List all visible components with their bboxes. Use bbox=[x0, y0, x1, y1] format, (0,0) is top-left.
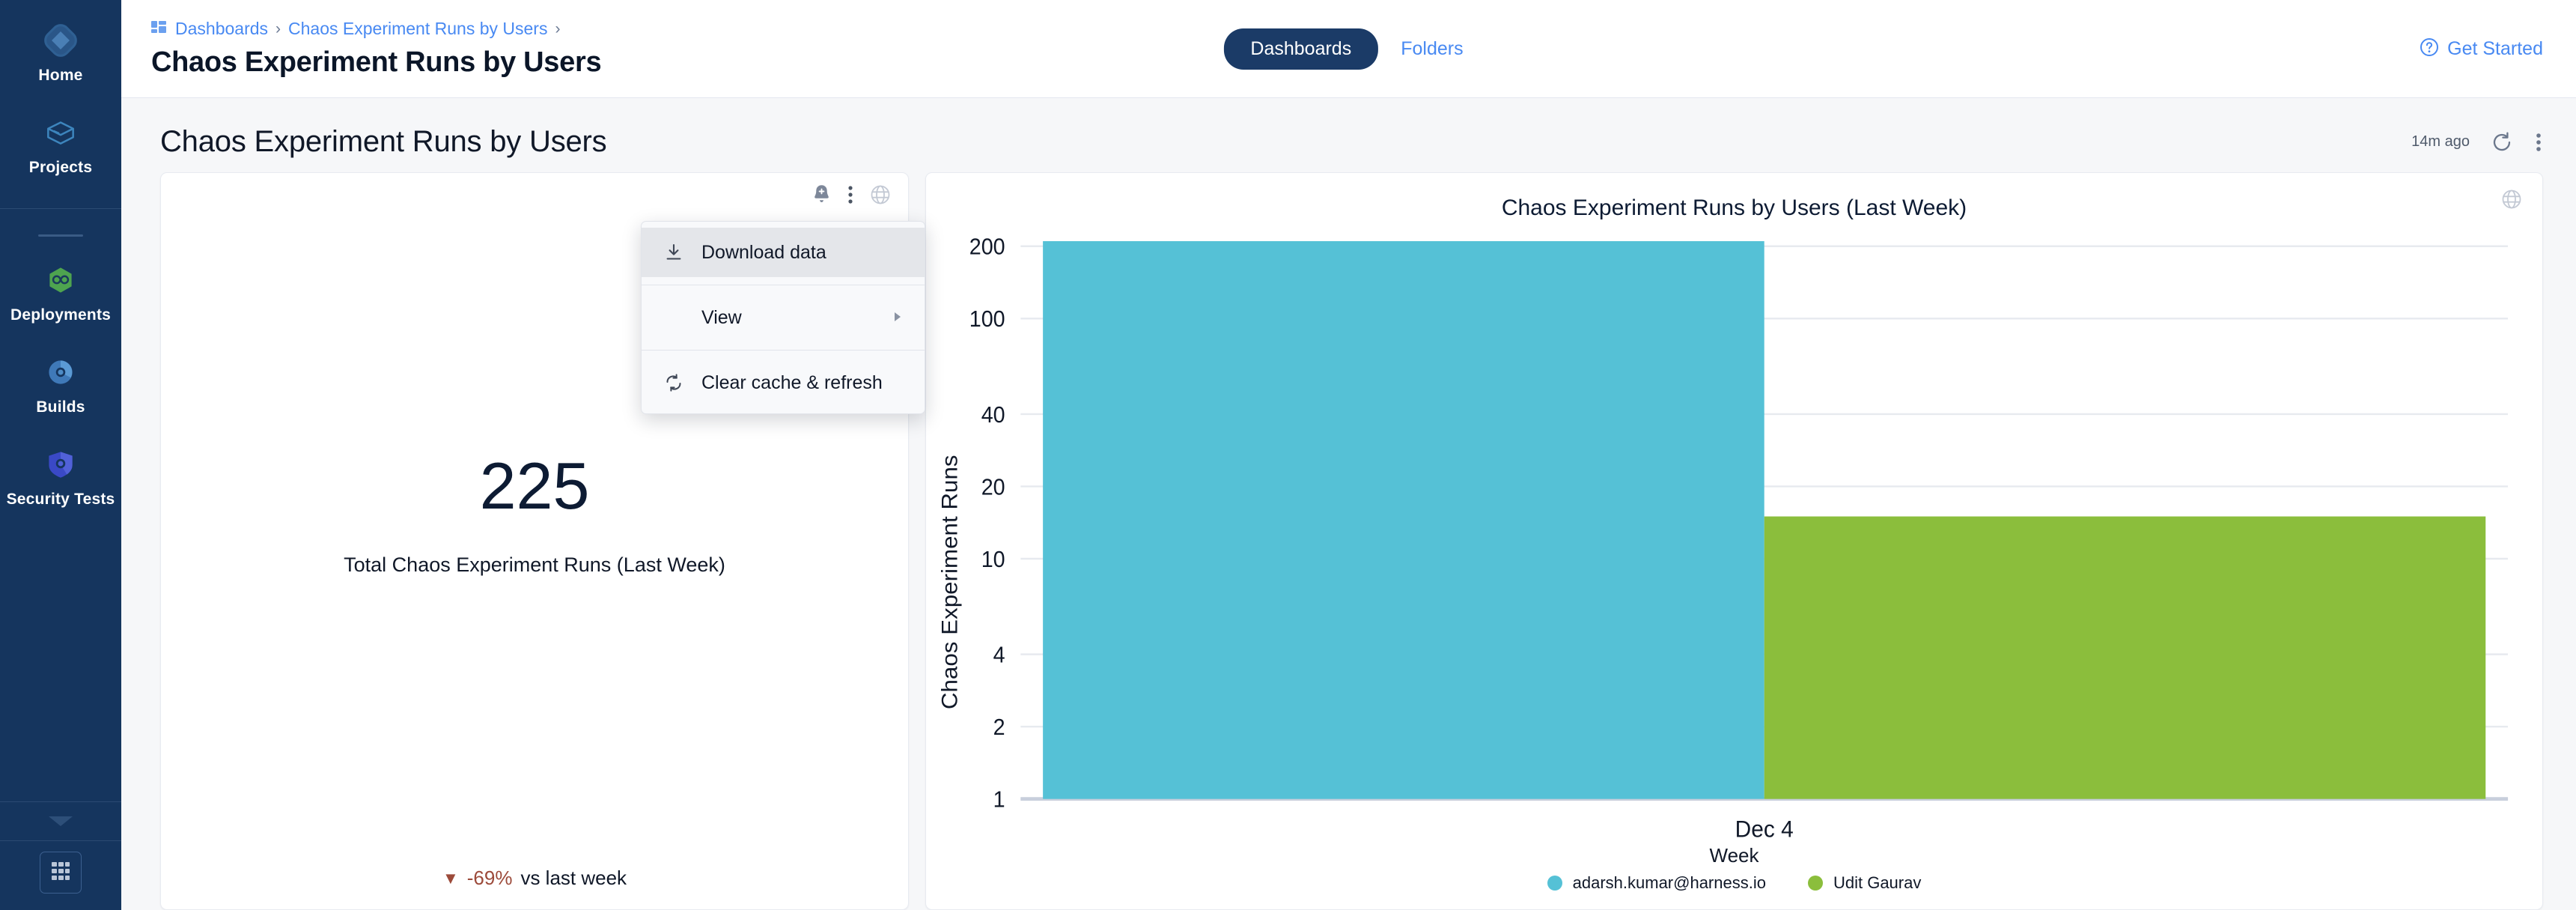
chart-x-axis-label: Week bbox=[926, 844, 2542, 872]
topbar-left: Dashboards › Chaos Experiment Runs by Us… bbox=[121, 19, 601, 79]
topbar-tabs: Dashboards Folders bbox=[1223, 28, 1473, 70]
menu-item-label: Download data bbox=[701, 242, 904, 264]
home-diamond-icon bbox=[41, 21, 80, 60]
svg-text:1: 1 bbox=[993, 787, 1005, 813]
single-value-number: 225 bbox=[480, 453, 590, 519]
sidebar-item-builds[interactable]: Builds bbox=[0, 336, 121, 428]
single-value-tile: 225 Total Chaos Experiment Runs (Last We… bbox=[160, 172, 909, 910]
submenu-arrow-icon bbox=[892, 307, 904, 329]
security-shield-icon bbox=[41, 445, 80, 484]
main-sidebar: Home Projects bbox=[0, 0, 121, 910]
svg-text:200: 200 bbox=[969, 234, 1005, 260]
chart-plot-area: 200100402010421 Chaos Experiment Runs De… bbox=[926, 221, 2542, 844]
svg-text:40: 40 bbox=[981, 402, 1005, 428]
legend-color-dot bbox=[1547, 876, 1562, 891]
sidebar-apps-row bbox=[0, 840, 121, 910]
legend-color-dot bbox=[1808, 876, 1823, 891]
sidebar-divider bbox=[38, 234, 83, 237]
single-tile-actions bbox=[812, 183, 892, 206]
builds-circle-icon bbox=[41, 353, 80, 392]
menu-item-label: View bbox=[701, 307, 875, 329]
svg-text:4: 4 bbox=[993, 643, 1005, 668]
tile-context-menu: Download data View bbox=[641, 221, 925, 414]
sidebar-primary-group: Home Projects bbox=[0, 0, 121, 209]
menu-separator bbox=[642, 350, 925, 351]
content-area: Dashboards › Chaos Experiment Runs by Us… bbox=[121, 0, 2576, 910]
sidebar-modules-group: Deployments Builds bbox=[0, 240, 121, 521]
delta-suffix: vs last week bbox=[520, 867, 627, 890]
get-started-label: Get Started bbox=[2447, 38, 2543, 60]
dashboard-header: Chaos Experiment Runs by Users 14m ago bbox=[121, 98, 2576, 172]
breadcrumb-link-current[interactable]: Chaos Experiment Runs by Users bbox=[288, 19, 547, 39]
legend-label: adarsh.kumar@harness.io bbox=[1573, 873, 1766, 893]
chart-tile: Chaos Experiment Runs by Users (Last Wee… bbox=[925, 172, 2543, 910]
sidebar-item-security-tests[interactable]: Security Tests bbox=[0, 428, 121, 521]
download-icon bbox=[663, 243, 685, 262]
sidebar-item-label: Projects bbox=[29, 159, 92, 177]
tab-dashboards[interactable]: Dashboards bbox=[1223, 28, 1378, 70]
sidebar-item-deployments[interactable]: Deployments bbox=[0, 244, 121, 336]
deployments-infinity-icon bbox=[41, 261, 80, 300]
svg-text:10: 10 bbox=[981, 547, 1005, 572]
bar-chart-svg: 200100402010421 Chaos Experiment Runs De… bbox=[926, 221, 2542, 844]
single-value-caption: Total Chaos Experiment Runs (Last Week) bbox=[344, 553, 725, 577]
tab-folders[interactable]: Folders bbox=[1390, 28, 1473, 70]
menu-item-clear-cache-refresh[interactable]: Clear cache & refresh bbox=[642, 358, 925, 407]
globe-icon[interactable] bbox=[2500, 188, 2523, 210]
sidebar-item-projects[interactable]: Projects bbox=[0, 97, 121, 189]
kebab-menu-icon[interactable] bbox=[847, 184, 854, 205]
dashboards-grid-icon bbox=[151, 21, 168, 37]
projects-box-icon bbox=[41, 113, 80, 152]
legend-item[interactable]: adarsh.kumar@harness.io bbox=[1547, 873, 1766, 893]
sidebar-item-label: Security Tests bbox=[7, 491, 115, 509]
app-root: Home Projects bbox=[0, 0, 2576, 910]
app-grid-button[interactable] bbox=[40, 852, 82, 894]
chart-tile-actions bbox=[2500, 188, 2523, 210]
sidebar-spacer bbox=[0, 521, 121, 801]
top-bar: Dashboards › Chaos Experiment Runs by Us… bbox=[121, 0, 2576, 98]
alert-bell-add-icon[interactable] bbox=[812, 183, 832, 206]
chart-y-axis-label: Chaos Experiment Runs bbox=[937, 455, 962, 709]
sidebar-item-label: Builds bbox=[36, 398, 85, 416]
sidebar-item-label: Deployments bbox=[10, 306, 111, 324]
breadcrumb: Dashboards › Chaos Experiment Runs by Us… bbox=[151, 19, 601, 39]
legend-label: Udit Gaurav bbox=[1833, 873, 1921, 893]
tiles-row: 225 Total Chaos Experiment Runs (Last We… bbox=[121, 172, 2576, 910]
refresh-icon[interactable] bbox=[2491, 131, 2513, 154]
sidebar-item-home[interactable]: Home bbox=[0, 4, 121, 97]
kebab-menu-icon[interactable] bbox=[2534, 131, 2543, 154]
breadcrumb-separator-trailing: › bbox=[555, 20, 560, 38]
delta-down-arrow-icon: ▼ bbox=[442, 870, 459, 887]
dashboard-header-actions: 14m ago bbox=[2411, 131, 2543, 154]
get-started-button[interactable]: Get Started bbox=[2420, 37, 2543, 61]
legend-item[interactable]: Udit Gaurav bbox=[1808, 873, 1921, 893]
chart-bar[interactable] bbox=[1043, 241, 1764, 799]
dashboard-title: Chaos Experiment Runs by Users bbox=[160, 125, 606, 159]
question-circle-icon bbox=[2420, 37, 2439, 61]
page-title: Chaos Experiment Runs by Users bbox=[151, 46, 601, 79]
menu-item-download-data[interactable]: Download data bbox=[642, 228, 925, 277]
last-refreshed-label: 14m ago bbox=[2411, 133, 2470, 151]
chevron-down-icon bbox=[44, 813, 77, 833]
clear-cache-refresh-icon bbox=[663, 373, 685, 392]
sidebar-collapse-button[interactable] bbox=[0, 801, 121, 840]
menu-item-label: Clear cache & refresh bbox=[701, 372, 904, 394]
chart-title: Chaos Experiment Runs by Users (Last Wee… bbox=[926, 173, 2542, 221]
svg-text:20: 20 bbox=[981, 475, 1005, 500]
chart-bar[interactable] bbox=[1764, 517, 2486, 799]
globe-icon[interactable] bbox=[869, 183, 892, 206]
delta-percent: -69% bbox=[467, 867, 513, 890]
svg-text:2: 2 bbox=[993, 715, 1005, 740]
svg-text:100: 100 bbox=[969, 307, 1005, 333]
chart-x-tick-label: Dec 4 bbox=[1735, 816, 1794, 843]
menu-separator bbox=[642, 285, 925, 285]
breadcrumb-separator: › bbox=[275, 20, 281, 38]
chart-bars bbox=[1043, 241, 2485, 799]
dashboard-body: Chaos Experiment Runs by Users 14m ago bbox=[121, 98, 2576, 910]
chart-legend: adarsh.kumar@harness.io Udit Gaurav bbox=[926, 872, 2542, 909]
single-value-footer: ▼ -69% vs last week bbox=[161, 867, 908, 890]
chart-y-tick-labels: 200100402010421 bbox=[969, 234, 1005, 813]
menu-item-view[interactable]: View bbox=[642, 293, 925, 342]
app-grid-icon bbox=[49, 860, 72, 886]
breadcrumb-link-dashboards[interactable]: Dashboards bbox=[175, 19, 268, 39]
sidebar-item-label: Home bbox=[38, 67, 82, 85]
